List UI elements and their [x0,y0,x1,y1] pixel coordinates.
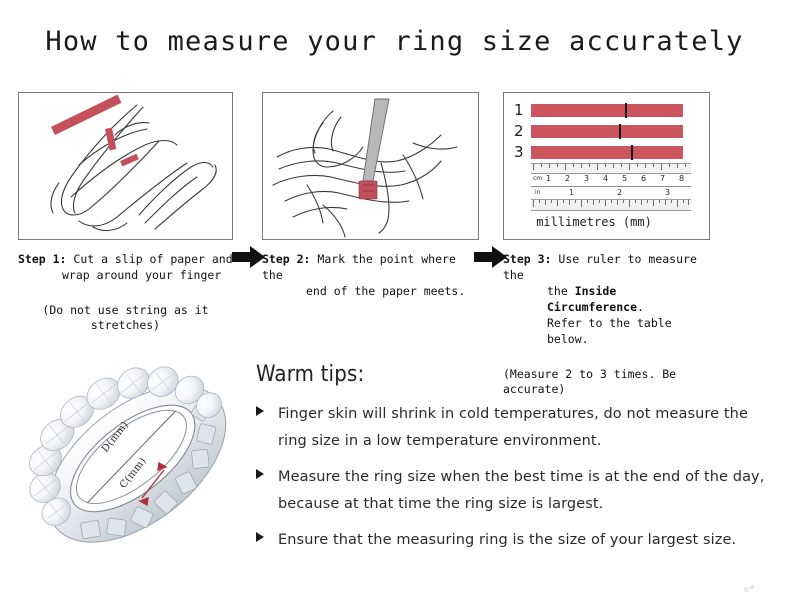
ruler-with-measured-paper-strips: 1 2 3 [504,93,709,239]
paper-strip-3 [531,146,683,159]
ruler-cm-unit: cm [533,174,542,183]
step-1-lead: Step 1: [18,252,66,266]
strip-mark-3 [631,145,633,160]
ruler-inch-2: 2 [617,188,622,197]
step-1-line1: Cut a slip of paper and [66,252,232,266]
strip-label-3: 3 [514,145,531,160]
step-2-line2: end of the paper meets. [262,283,479,299]
eternity-ring-diagram: D(mm) C(mm) [22,352,252,577]
strip-label-2: 2 [514,124,531,139]
step-2-lead: Step 2: [262,252,310,266]
ruler-cm-4: 4 [603,174,608,183]
ruler: cm 1 2 3 4 5 6 7 8 in 1 [531,163,691,211]
arrow-right-icon-1 [232,244,266,270]
ruler-inch-unit: in [535,188,540,197]
step-3-column: 1 2 3 [503,92,710,397]
paper-strip-2 [531,125,683,138]
step-1-panel [18,92,233,240]
triangle-bullet-icon [256,469,264,479]
triangle-bullet-icon [256,406,264,416]
step-2-column: Step 2: Mark the point where the end of … [262,92,479,319]
step-2-panel [262,92,479,240]
ruler-unit-caption: millimetres (mm) [504,215,684,229]
tip-item: Measure the ring size when the best time… [256,464,766,518]
step-3-line3: Refer to the table below. [503,315,710,347]
tip-text: Ensure that the measuring ring is the si… [278,532,736,548]
step-1-line2: wrap around your finger [18,267,233,283]
tip-item: Finger skin will shrink in cold temperat… [256,401,766,455]
ruler-cm-8: 8 [679,174,684,183]
ruler-cm-6: 6 [641,174,646,183]
tip-item: Ensure that the measuring ring is the si… [256,527,766,554]
watermark-mark [744,578,754,586]
strip-mark-2 [619,124,621,139]
hand-with-paper-slip-illustration [19,93,232,239]
ruler-inch-ticks [531,200,691,207]
ruler-cm-ticks [531,164,691,171]
strip-label-1: 1 [514,103,531,118]
paper-strip-1 [531,104,683,117]
ruler-cm-numbers: cm 1 2 3 4 5 6 7 8 [531,174,691,186]
step-3-line2: the Inside Circumference. [503,283,710,315]
warm-tips-section: Warm tips: Finger skin will shrink in co… [256,362,766,563]
step-3-lead: Step 3: [503,252,551,266]
steps-row: Step 1: Cut a slip of paper and wrap aro… [0,92,789,337]
ruler-cm-2: 2 [565,174,570,183]
ruler-inch-3: 3 [665,188,670,197]
hand-marking-paper-with-pen-illustration [263,93,478,239]
strip-row-3: 3 [514,145,683,160]
ruler-cm-7: 7 [660,174,665,183]
strip-row-2: 2 [514,124,683,139]
step-2-caption: Step 2: Mark the point where the end of … [262,251,479,299]
strip-mark-1 [625,103,627,118]
warm-tips-heading: Warm tips: [256,362,766,387]
page-title: How to measure your ring size accurately [0,26,789,57]
ruler-divider [531,186,691,187]
tip-text: Finger skin will shrink in cold temperat… [278,406,748,449]
step-3-line2-tail: . [637,300,644,314]
step-1-note: (Do not use string as it stretches) [18,303,233,333]
strip-row-1: 1 [514,103,683,118]
ruler-inch-1: 1 [569,188,574,197]
ruler-cm-5: 5 [622,174,627,183]
ruler-cm-1: 1 [546,174,551,183]
step-3-caption: Step 3: Use ruler to measure the the Ins… [503,251,710,347]
step-3-panel: 1 2 3 [503,92,710,240]
step-1-column: Step 1: Cut a slip of paper and wrap aro… [18,92,233,333]
triangle-bullet-icon [256,532,264,542]
step-3-line2-pre: the [547,284,575,298]
tip-text: Measure the ring size when the best time… [278,469,764,512]
step-1-caption: Step 1: Cut a slip of paper and wrap aro… [18,251,233,283]
ruler-cm-3: 3 [584,174,589,183]
